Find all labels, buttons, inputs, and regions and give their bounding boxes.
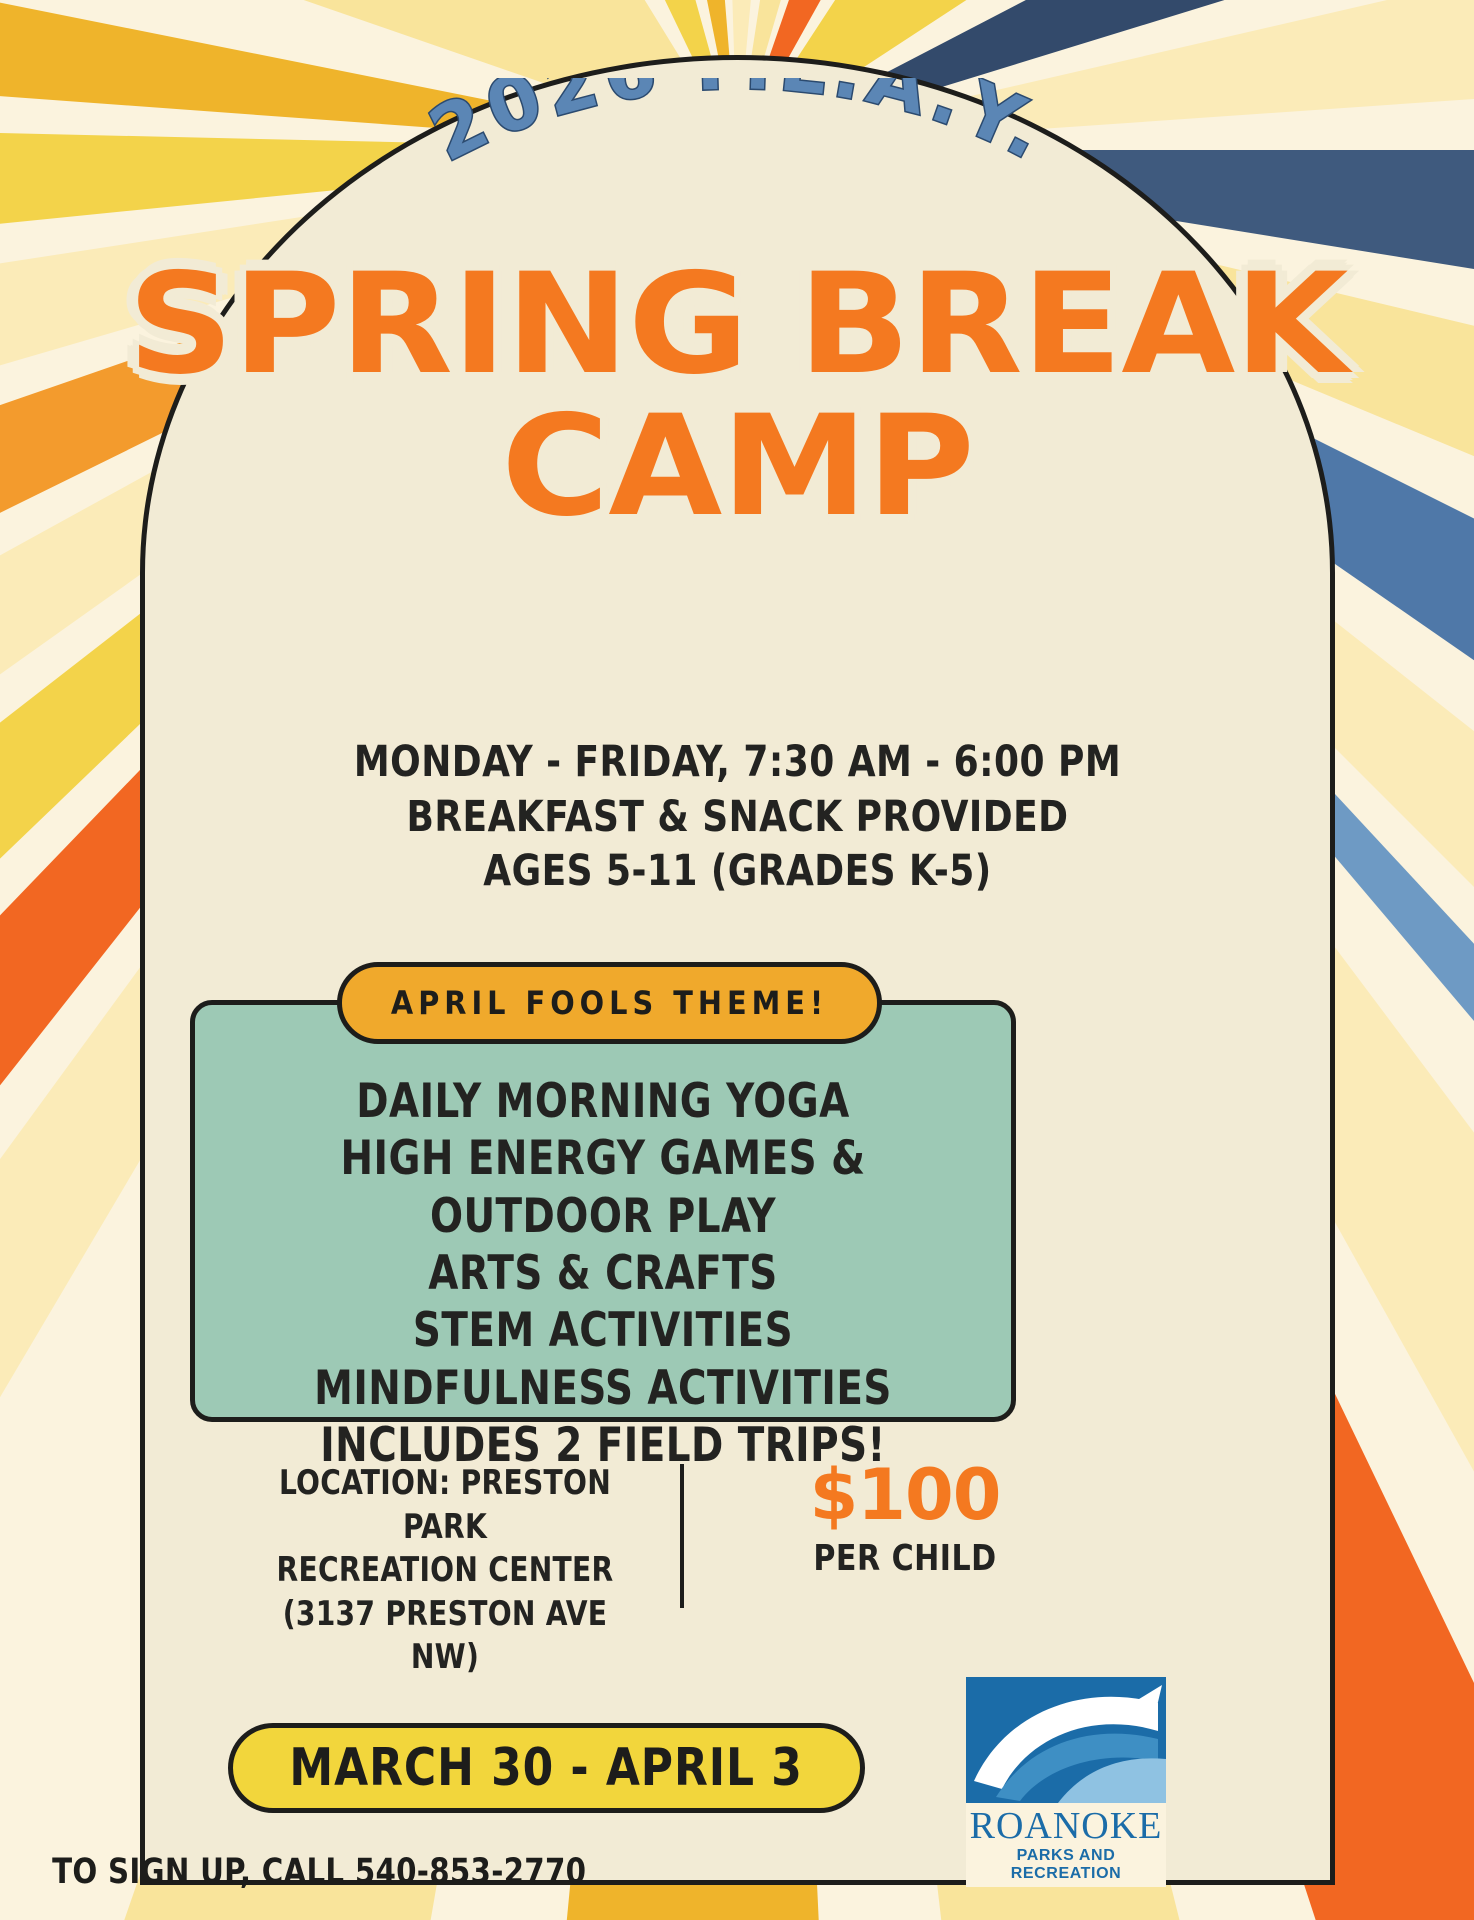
schedule-line-meals: BREAKFAST & SNACK PROVIDED	[191, 790, 1284, 845]
theme-badge-label: APRIL FOOLS THEME!	[391, 984, 828, 1022]
activity-item-6: INCLUDES 2 FIELD TRIPS!	[228, 1417, 979, 1474]
logo-mark-icon	[966, 1677, 1166, 1803]
logo-name: ROANOKE	[966, 1807, 1166, 1847]
roanoke-logo: ROANOKE PARKS AND RECREATION	[966, 1677, 1166, 1887]
logo-text-block: ROANOKE PARKS AND RECREATION	[966, 1803, 1166, 1887]
title-line-1: SPRING BREAK	[115, 258, 1361, 390]
page-title: SPRING BREAK CAMP	[150, 258, 1325, 532]
activities-box: DAILY MORNING YOGA HIGH ENERGY GAMES & O…	[190, 1000, 1016, 1422]
activity-item-1: DAILY MORNING YOGA	[228, 1073, 979, 1130]
info-row: LOCATION: PRESTON PARK RECREATION CENTER…	[190, 1462, 1250, 1632]
flyer-poster: 2026 P.L.A.Y. SPRING BREAK CAMP MONDAY -…	[0, 0, 1474, 1920]
activity-item-3: ARTS & CRAFTS	[228, 1245, 979, 1302]
schedule-line-ages: AGES 5-11 (GRADES K-5)	[191, 844, 1284, 899]
location-block: LOCATION: PRESTON PARK RECREATION CENTER…	[230, 1462, 660, 1680]
activity-item-4: STEM ACTIVITIES	[228, 1302, 979, 1359]
date-badge-label: MARCH 30 - APRIL 3	[290, 1738, 803, 1798]
schedule-line-hours: MONDAY - FRIDAY, 7:30 AM - 6:00 PM	[191, 735, 1284, 790]
logo-tagline: PARKS AND RECREATION	[966, 1847, 1166, 1887]
footer-signup-label: TO SIGN UP, CALL 540-853-2770	[52, 1852, 586, 1892]
price-unit: PER CHILD	[766, 1538, 1045, 1579]
activity-item-2: HIGH ENERGY GAMES & OUTDOOR PLAY	[228, 1130, 979, 1245]
footer-signup: TO SIGN UP, CALL 540-853-2770	[32, 1852, 606, 1892]
vertical-divider	[680, 1464, 684, 1608]
schedule-block: MONDAY - FRIDAY, 7:30 AM - 6:00 PM BREAK…	[150, 735, 1325, 899]
location-line-3: (3137 PRESTON AVE NW)	[247, 1593, 643, 1680]
location-line-2: RECREATION CENTER	[247, 1549, 643, 1593]
theme-badge: APRIL FOOLS THEME!	[337, 962, 882, 1044]
location-line-1: LOCATION: PRESTON PARK	[247, 1462, 643, 1549]
activity-item-5: MINDFULNESS ACTIVITIES	[228, 1360, 979, 1417]
title-line-2: CAMP	[115, 400, 1361, 532]
date-badge: MARCH 30 - APRIL 3	[228, 1723, 865, 1813]
